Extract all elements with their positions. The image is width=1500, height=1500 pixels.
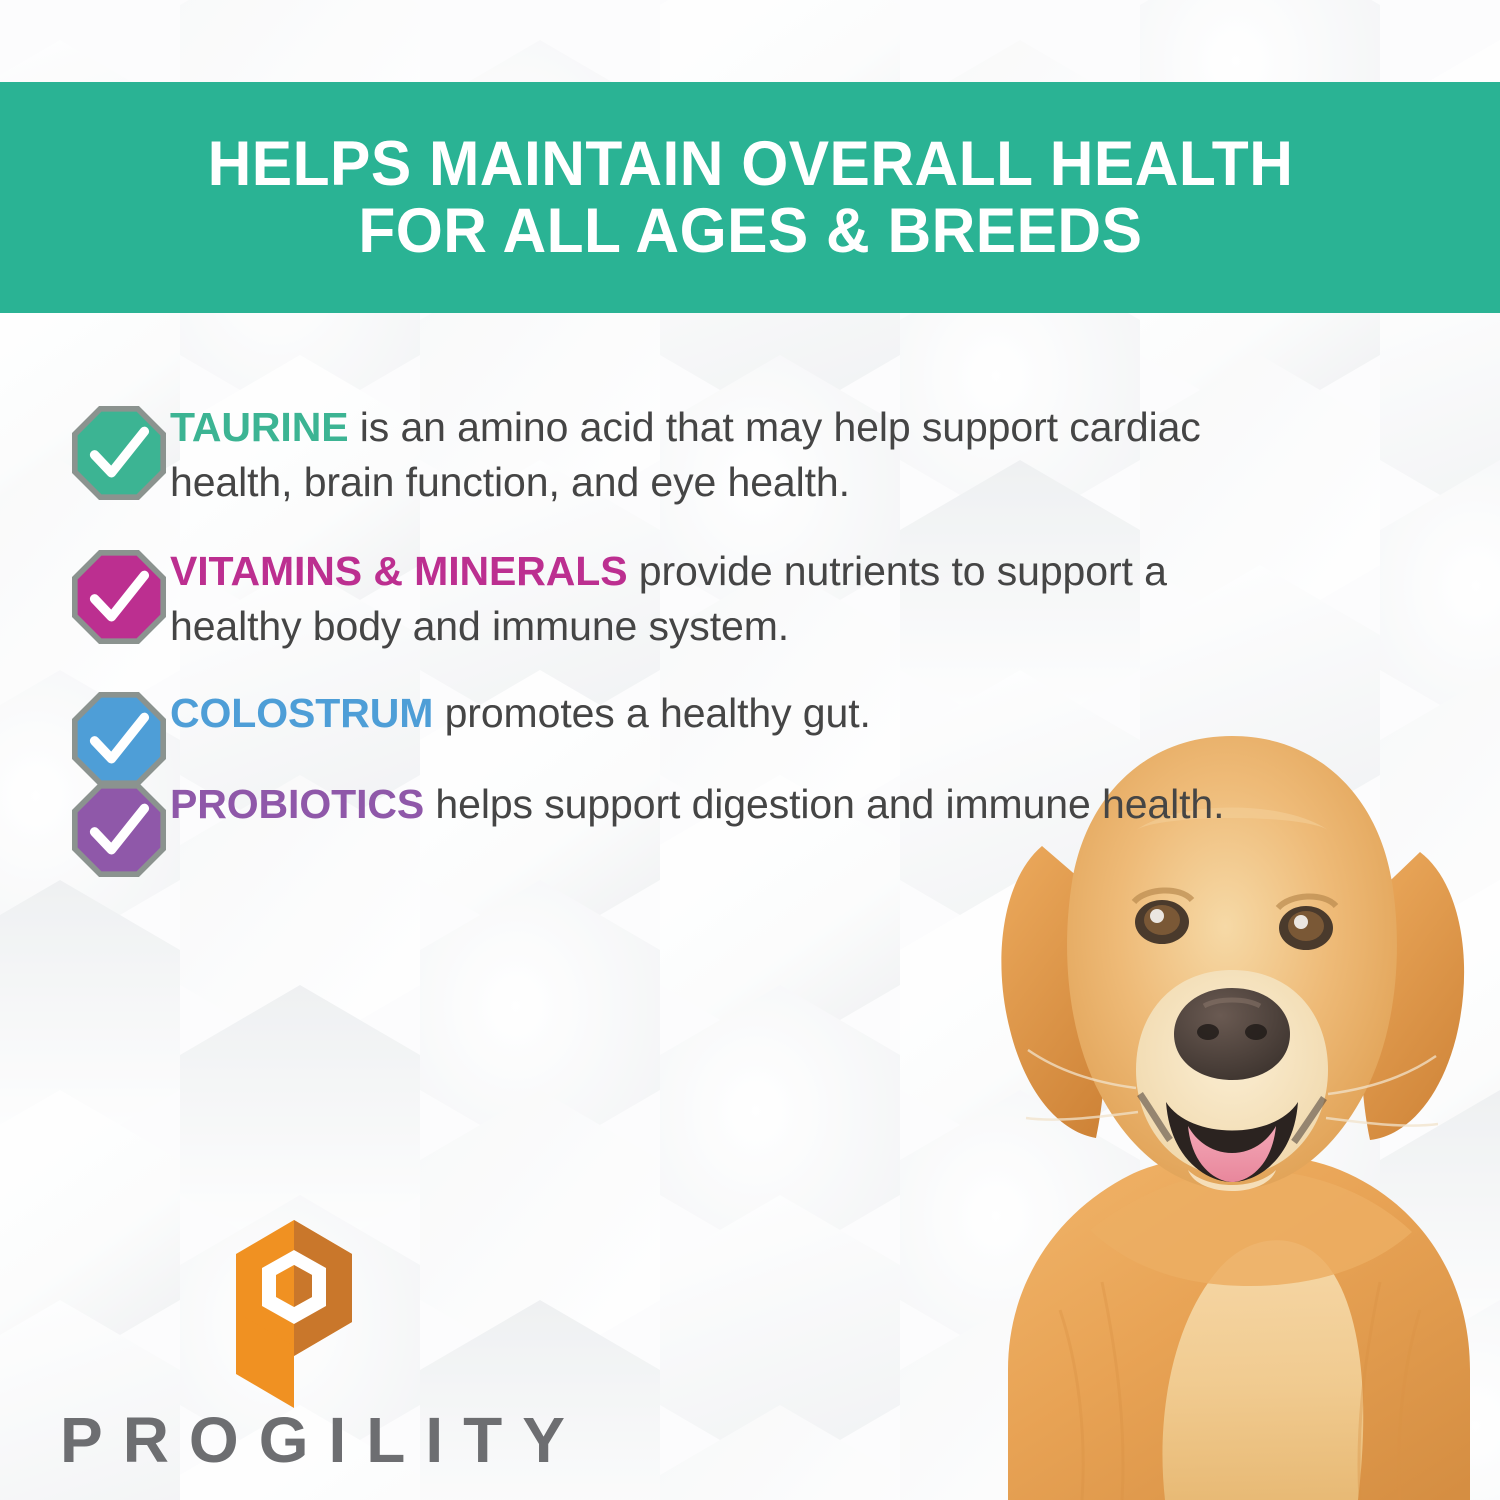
- benefit-keyword: VITAMINS & MINERALS: [170, 548, 627, 594]
- list-item-text: PROBIOTICS helps support digestion and i…: [170, 777, 1245, 832]
- header-line-1: HELPS MAINTAIN OVERALL HEALTH: [207, 131, 1293, 198]
- benefits-list: TAURINE is an amino acid that may help s…: [0, 400, 1270, 832]
- list-item-text: TAURINE is an amino acid that may help s…: [170, 400, 1245, 510]
- check-octagon-icon: [72, 550, 166, 644]
- benefit-description: helps support digestion and immune healt…: [424, 781, 1224, 827]
- list-item: PROBIOTICS helps support digestion and i…: [0, 777, 1270, 832]
- infographic-page: HELPS MAINTAIN OVERALL HEALTH FOR ALL AG…: [0, 0, 1500, 1500]
- list-item: TAURINE is an amino acid that may help s…: [0, 400, 1270, 510]
- list-item-text: VITAMINS & MINERALS provide nutrients to…: [170, 544, 1245, 654]
- benefit-keyword: TAURINE: [170, 404, 348, 450]
- list-item: VITAMINS & MINERALS provide nutrients to…: [0, 544, 1270, 654]
- header-banner: HELPS MAINTAIN OVERALL HEALTH FOR ALL AG…: [0, 82, 1500, 313]
- brand-wordmark: PROGILITY: [60, 1408, 585, 1472]
- brand-logo: PROGILITY: [60, 1212, 585, 1472]
- check-octagon-icon: [72, 692, 166, 786]
- list-item: COLOSTRUM promotes a healthy gut.: [0, 686, 1270, 741]
- benefit-description: promotes a healthy gut.: [433, 690, 870, 736]
- benefit-keyword: COLOSTRUM: [170, 690, 433, 736]
- list-item-text: COLOSTRUM promotes a healthy gut.: [170, 686, 1070, 741]
- header-line-2: FOR ALL AGES & BREEDS: [358, 198, 1142, 265]
- check-octagon-icon: [72, 783, 166, 877]
- benefit-keyword: PROBIOTICS: [170, 781, 424, 827]
- check-octagon-icon: [72, 406, 166, 500]
- progility-hex-p-logo-icon: [232, 1212, 382, 1412]
